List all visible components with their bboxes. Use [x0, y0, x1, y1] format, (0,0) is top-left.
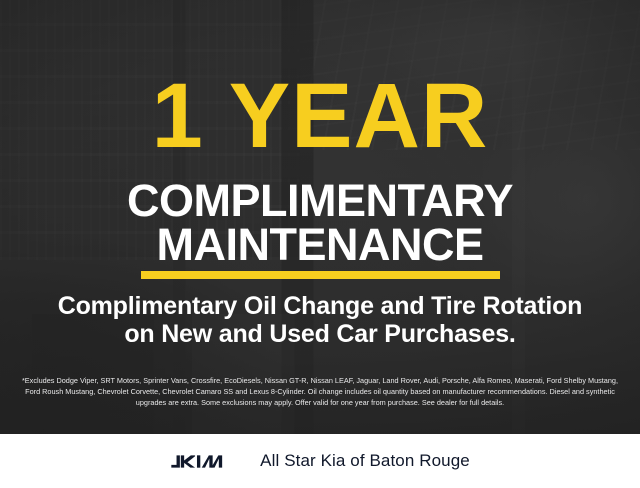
headline-complimentary: COMPLIMENTARY — [0, 178, 640, 223]
offer-description-line-1: Complimentary Oil Change and Tire Rotati… — [0, 292, 640, 320]
promotional-banner: 1 YEAR COMPLIMENTARY MAINTENANCE Complim… — [0, 0, 640, 488]
disclaimer-fine-print: *Excludes Dodge Viper, SRT Motors, Sprin… — [14, 376, 626, 409]
headline-year: 1 YEAR — [0, 74, 640, 159]
dealer-name: All Star Kia of Baton Rouge — [260, 451, 470, 471]
footer-bar: All Star Kia of Baton Rouge — [0, 434, 640, 488]
yellow-divider-rule — [141, 271, 500, 279]
kia-logo — [170, 452, 242, 471]
hero-section: 1 YEAR COMPLIMENTARY MAINTENANCE Complim… — [0, 0, 640, 434]
headline-maintenance: MAINTENANCE — [0, 222, 640, 267]
offer-description-line-2: on New and Used Car Purchases. — [0, 320, 640, 348]
hero-content: 1 YEAR COMPLIMENTARY MAINTENANCE Complim… — [0, 0, 640, 434]
